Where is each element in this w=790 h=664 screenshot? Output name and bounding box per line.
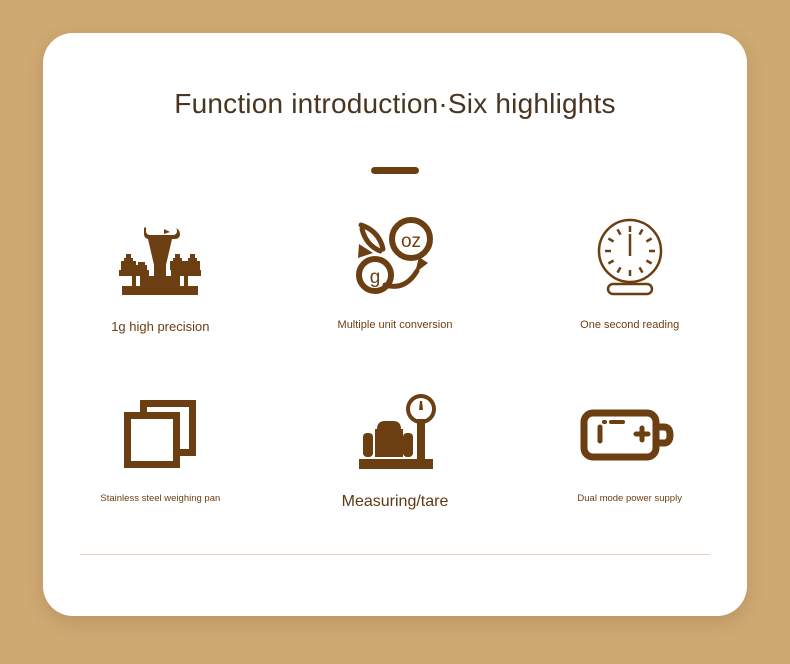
feature-label: 1g high precision xyxy=(111,319,209,334)
feature-row-top: 1g high precision xyxy=(43,203,747,334)
feature-label: Dual mode power supply xyxy=(577,493,682,504)
row-divider xyxy=(80,554,710,555)
feature-item-power-supply[interactable]: Dual mode power supply xyxy=(512,382,747,511)
feature-grid: 1g high precision xyxy=(43,203,747,511)
dial-clock-icon xyxy=(586,203,674,313)
battery-icon xyxy=(578,382,682,487)
page-title: Function introduction·Six highlights xyxy=(43,88,747,120)
unit-to-text: oz xyxy=(401,231,421,252)
balance-scale-with-weights-icon xyxy=(110,203,210,313)
luggage-platform-scale-icon xyxy=(347,382,443,487)
feature-label: One second reading xyxy=(580,319,679,331)
unit-conversion-g-oz-icon: oz g xyxy=(349,203,441,313)
feature-item-measuring-tare[interactable]: Measuring/tare xyxy=(278,382,513,511)
feature-item-one-second-reading[interactable]: One second reading xyxy=(512,203,747,334)
feature-card: Function introduction·Six highlights xyxy=(43,33,747,616)
feature-item-weighing-pan[interactable]: Stainless steel weighing pan xyxy=(43,382,278,511)
title-underline-bar xyxy=(371,167,419,174)
feature-item-unit-conversion[interactable]: oz g Multiple unit conversion xyxy=(278,203,513,334)
feature-row-bottom: Stainless steel weighing pan xyxy=(43,382,747,511)
page-root: Function introduction·Six highlights xyxy=(0,0,790,664)
feature-label: Measuring/tare xyxy=(342,493,449,511)
unit-from-text: g xyxy=(370,267,381,288)
feature-label: Stainless steel weighing pan xyxy=(100,493,220,504)
feature-item-precision[interactable]: 1g high precision xyxy=(43,203,278,334)
stacked-square-pans-icon xyxy=(120,382,200,487)
feature-label: Multiple unit conversion xyxy=(338,319,453,331)
